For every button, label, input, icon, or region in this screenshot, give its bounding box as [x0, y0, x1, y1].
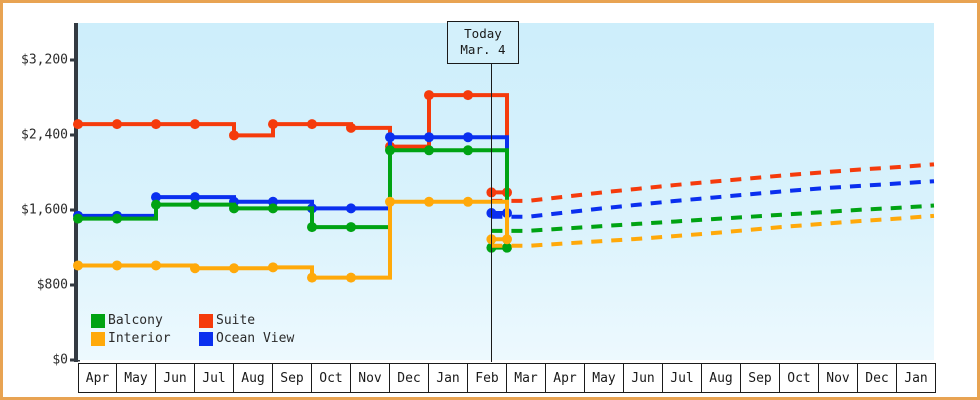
x-axis-month-cell[interactable]: Nov — [819, 363, 858, 393]
plot-area — [78, 23, 934, 360]
legend-color-swatch — [91, 314, 105, 328]
x-axis-month-cell[interactable]: Dec — [858, 363, 897, 393]
x-axis-month-cell[interactable]: Sep — [741, 363, 780, 393]
x-axis-month-cell[interactable]: Jun — [624, 363, 663, 393]
x-axis-months: AprMayJunJulAugSepOctNovDecJanFebMarAprM… — [78, 363, 936, 393]
y-axis: $3,200$2,400$1,600$800$0 — [3, 3, 68, 400]
chart-legend: BalconySuiteInteriorOcean View — [91, 313, 294, 346]
x-axis-month-cell[interactable]: Apr — [78, 363, 117, 393]
x-axis-month-cell[interactable]: Apr — [546, 363, 585, 393]
x-axis-month-cell[interactable]: Sep — [273, 363, 312, 393]
x-axis-month-cell[interactable]: Dec — [390, 363, 429, 393]
today-label: Today — [460, 26, 505, 42]
legend-item-label: Interior — [108, 331, 171, 346]
today-marker-box: Today Mar. 4 — [447, 21, 518, 64]
y-axis-tick-label: $800 — [37, 278, 68, 293]
legend-item-label: Ocean View — [216, 331, 294, 346]
x-axis-month-cell[interactable]: Jan — [429, 363, 468, 393]
x-axis-month-cell[interactable]: Mar — [507, 363, 546, 393]
today-marker-line — [491, 23, 492, 362]
x-axis-month-cell[interactable]: Oct — [312, 363, 351, 393]
y-axis-tick-label: $2,400 — [21, 128, 68, 143]
x-axis-month-cell[interactable]: Jan — [897, 363, 936, 393]
x-axis-month-cell[interactable]: Jul — [195, 363, 234, 393]
legend-item-label: Suite — [216, 313, 255, 328]
legend-item-label: Balcony — [108, 313, 163, 328]
x-axis-month-cell[interactable]: Jul — [663, 363, 702, 393]
x-axis-month-cell[interactable]: May — [117, 363, 156, 393]
legend-item[interactable]: Ocean View — [199, 331, 294, 346]
legend-item[interactable]: Suite — [199, 313, 294, 328]
x-axis-month-cell[interactable]: Aug — [702, 363, 741, 393]
legend-item[interactable]: Balcony — [91, 313, 191, 328]
legend-color-swatch — [199, 332, 213, 346]
x-axis-month-cell[interactable]: Aug — [234, 363, 273, 393]
legend-item[interactable]: Interior — [91, 331, 191, 346]
x-axis-month-cell[interactable]: Feb — [468, 363, 507, 393]
x-axis-month-cell[interactable]: May — [585, 363, 624, 393]
x-axis-month-cell[interactable]: Oct — [780, 363, 819, 393]
y-axis-tick-label: $3,200 — [21, 53, 68, 68]
y-axis-tick-label: $1,600 — [21, 203, 68, 218]
y-axis-tick-label: $0 — [52, 353, 68, 368]
legend-color-swatch — [199, 314, 213, 328]
x-axis-month-cell[interactable]: Nov — [351, 363, 390, 393]
legend-color-swatch — [91, 332, 105, 346]
price-history-chart-widget: $3,200$2,400$1,600$800$0 Today Mar. 4 Ba… — [0, 0, 980, 400]
today-date: Mar. 4 — [460, 42, 505, 58]
x-axis-month-cell[interactable]: Jun — [156, 363, 195, 393]
